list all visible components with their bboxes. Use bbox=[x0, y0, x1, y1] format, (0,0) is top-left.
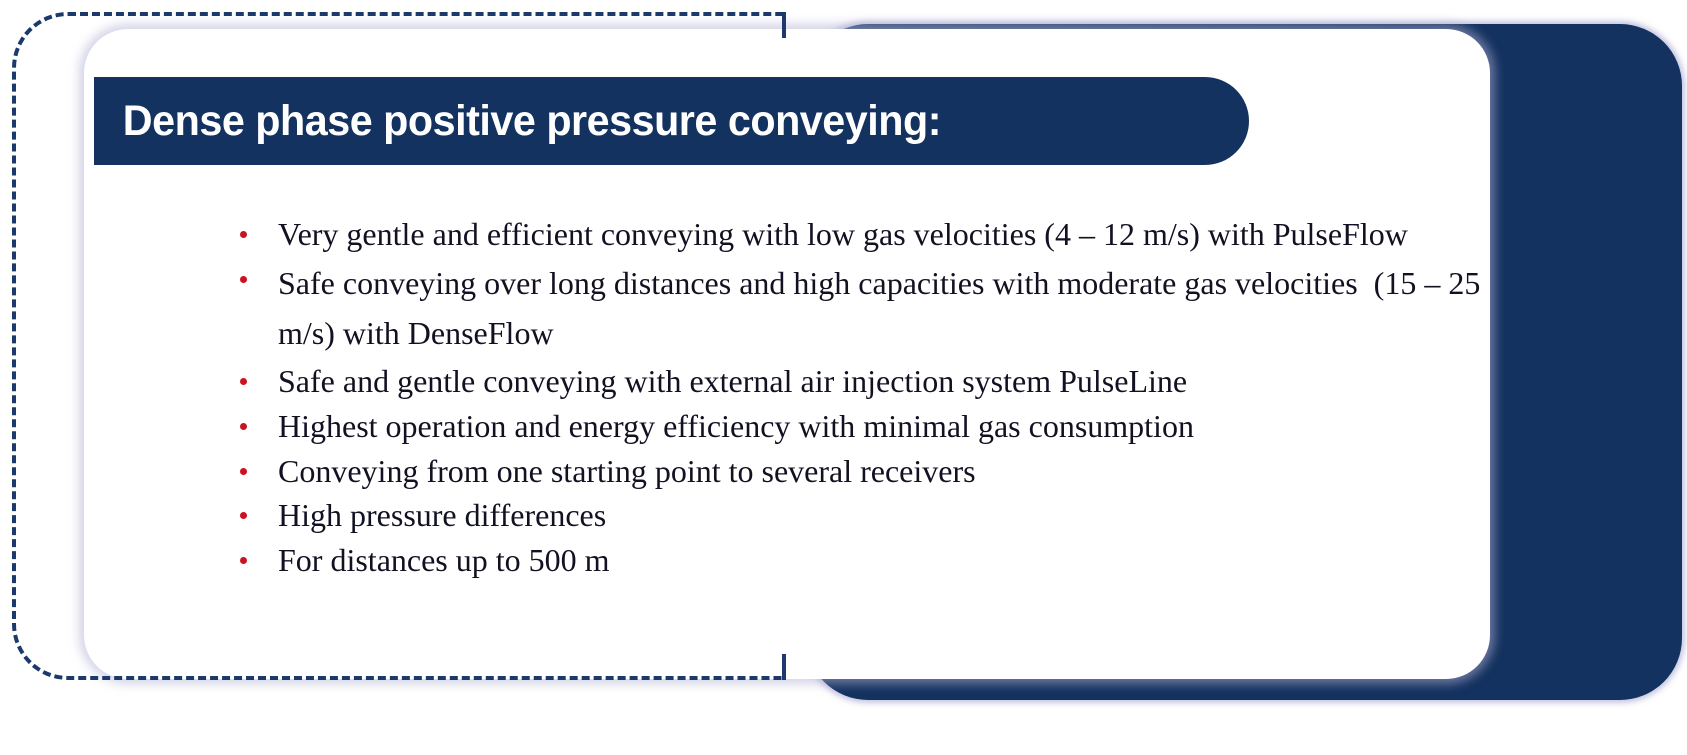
bullet-dot-icon bbox=[240, 231, 247, 238]
slide-canvas: Dense phase positive pressure conveying:… bbox=[0, 0, 1687, 755]
content-card: Dense phase positive pressure conveying:… bbox=[84, 29, 1490, 679]
list-item-label: Conveying from one starting point to sev… bbox=[278, 453, 976, 489]
bullet-dot-icon bbox=[240, 557, 247, 564]
list-item-label: Highest operation and energy efficiency … bbox=[278, 408, 1194, 444]
list-item: For distances up to 500 m bbox=[232, 540, 1482, 582]
list-item: High pressure differences bbox=[232, 495, 1482, 537]
bullet-dot-icon bbox=[240, 378, 247, 385]
page-title: Dense phase positive pressure conveying: bbox=[94, 97, 941, 146]
list-item: Highest operation and energy efficiency … bbox=[232, 406, 1482, 448]
list-item: Conveying from one starting point to sev… bbox=[232, 451, 1482, 493]
list-item-label: Safe conveying over long distances and h… bbox=[278, 265, 1488, 351]
bullet-dot-icon bbox=[240, 423, 247, 430]
title-banner: Dense phase positive pressure conveying: bbox=[94, 77, 1249, 165]
list-item-label: Very gentle and efficient conveying with… bbox=[278, 216, 1408, 252]
list-item-label: For distances up to 500 m bbox=[278, 542, 610, 578]
feature-list: Very gentle and efficient conveying with… bbox=[232, 214, 1482, 584]
list-item-label: High pressure differences bbox=[278, 497, 606, 533]
bullet-dot-icon bbox=[240, 276, 247, 283]
list-item: Safe and gentle conveying with external … bbox=[232, 361, 1482, 403]
list-item: Very gentle and efficient conveying with… bbox=[232, 214, 1482, 256]
bullet-dot-icon bbox=[240, 512, 247, 519]
bullet-dot-icon bbox=[240, 468, 247, 475]
list-item-label: Safe and gentle conveying with external … bbox=[278, 363, 1187, 399]
list-item: Safe conveying over long distances and h… bbox=[232, 259, 1482, 359]
